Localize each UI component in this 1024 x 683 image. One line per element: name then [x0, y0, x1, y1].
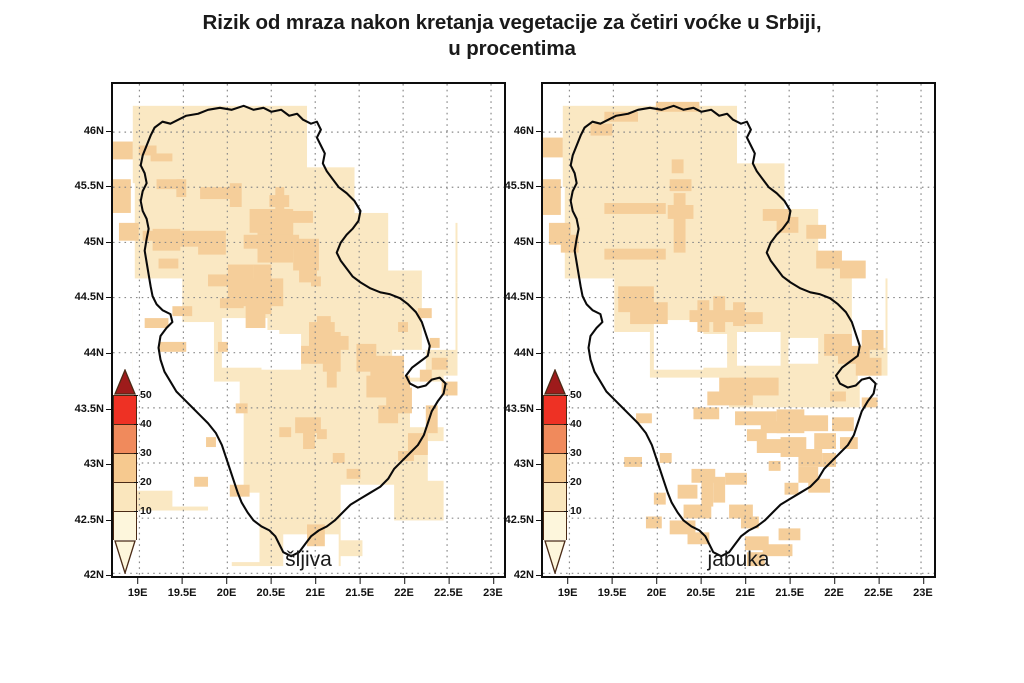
xtick-label: 19E	[128, 587, 148, 599]
figure-title-line-1: Rizik od mraza nakon kretanja vegetacije…	[203, 11, 822, 34]
ytick-label: 46N	[84, 125, 104, 137]
colorbar-segment-30-40	[113, 424, 137, 453]
colorbar-tick-20: 20	[570, 476, 582, 488]
colorbar-body: 50 40 30 20 10	[113, 395, 137, 540]
colorbar-segment-20-30	[543, 453, 567, 482]
ytick-label: 42N	[514, 569, 534, 581]
ytick-label: 43.5N	[75, 403, 104, 415]
colorbar-body: 50 40 30 20 10	[543, 395, 567, 540]
map-frame-sljiva	[111, 82, 506, 578]
colorbar-tick-50: 50	[140, 389, 152, 401]
xtick-label: 22.5E	[864, 587, 893, 599]
colorbar-sljiva: 50 40 30 20 10	[113, 369, 137, 566]
xtick-label: 20.5E	[257, 587, 286, 599]
ytick-label: 44N	[514, 347, 534, 359]
map-frame-jabuka	[541, 82, 936, 578]
colorbar-tick-10: 10	[570, 505, 582, 517]
colorbar-segment-40-50	[543, 395, 567, 424]
ytick-label: 43N	[514, 458, 534, 470]
xtick-label: 19E	[558, 587, 578, 599]
colorbar-tick-10: 10	[140, 505, 152, 517]
ytick-label: 42.5N	[75, 514, 104, 526]
xtick-label: 23E	[483, 587, 503, 599]
xtick-label: 22.5E	[434, 587, 463, 599]
colorbar-segment-30-40	[543, 424, 567, 453]
colorbar-tick-40: 40	[570, 418, 582, 430]
colorbar-tick-30: 30	[140, 447, 152, 459]
colorbar-segment-below-10	[113, 511, 137, 540]
xtick-label: 21.5E	[345, 587, 374, 599]
ytick-label: 44.5N	[75, 291, 104, 303]
figure-container: Rizik od mraza nakon kretanja vegetacije…	[0, 0, 1024, 683]
map-panel-sljiva: 46N 45.5N 45N 44.5N 44N 43.5N 43N 42.5N …	[111, 82, 506, 578]
xtick-label: 19.5E	[168, 587, 197, 599]
ytick-label: 42N	[84, 569, 104, 581]
ytick-label: 43.5N	[505, 403, 534, 415]
colorbar-tick-20: 20	[140, 476, 152, 488]
map-raster-sljiva	[113, 84, 504, 576]
figure-title-line-2: u procentima	[448, 37, 576, 60]
xtick-label: 21E	[306, 587, 326, 599]
xtick-label: 22E	[394, 587, 414, 599]
ytick-label: 45N	[84, 236, 104, 248]
colorbar-segment-40-50	[113, 395, 137, 424]
colorbar-cap-top	[113, 369, 137, 395]
ytick-label: 43N	[84, 458, 104, 470]
xtick-label: 19.5E	[598, 587, 627, 599]
ytick-label: 42.5N	[505, 514, 534, 526]
ytick-label: 45.5N	[75, 180, 104, 192]
ytick-label: 44N	[84, 347, 104, 359]
xtick-label: 20E	[217, 587, 237, 599]
colorbar-cap-top	[543, 369, 567, 395]
xtick-label: 21E	[736, 587, 756, 599]
colorbar-tick-30: 30	[570, 447, 582, 459]
xtick-label: 20.5E	[687, 587, 716, 599]
colorbar-segment-below-10	[543, 511, 567, 540]
xtick-label: 20E	[647, 587, 667, 599]
colorbar-tick-50: 50	[570, 389, 582, 401]
panel-caption-sljiva: šljiva	[111, 548, 506, 572]
colorbar-segment-10-20	[543, 482, 567, 511]
colorbar-segment-20-30	[113, 453, 137, 482]
colorbar-tick-40: 40	[140, 418, 152, 430]
figure-title: Rizik od mraza nakon kretanja vegetacije…	[0, 10, 1024, 62]
ytick-label: 45N	[514, 236, 534, 248]
ytick-label: 44.5N	[505, 291, 534, 303]
colorbar-segment-10-20	[113, 482, 137, 511]
map-raster-jabuka	[543, 84, 934, 576]
ytick-label: 45.5N	[505, 180, 534, 192]
xtick-label: 22E	[824, 587, 844, 599]
map-panel-jabuka: 46N 45.5N 45N 44.5N 44N 43.5N 43N 42.5N …	[541, 82, 936, 578]
xtick-label: 23E	[913, 587, 933, 599]
xtick-label: 21.5E	[775, 587, 804, 599]
panel-caption-jabuka: jabuka	[541, 548, 936, 572]
colorbar-jabuka: 50 40 30 20 10	[543, 369, 567, 566]
ytick-label: 46N	[514, 125, 534, 137]
